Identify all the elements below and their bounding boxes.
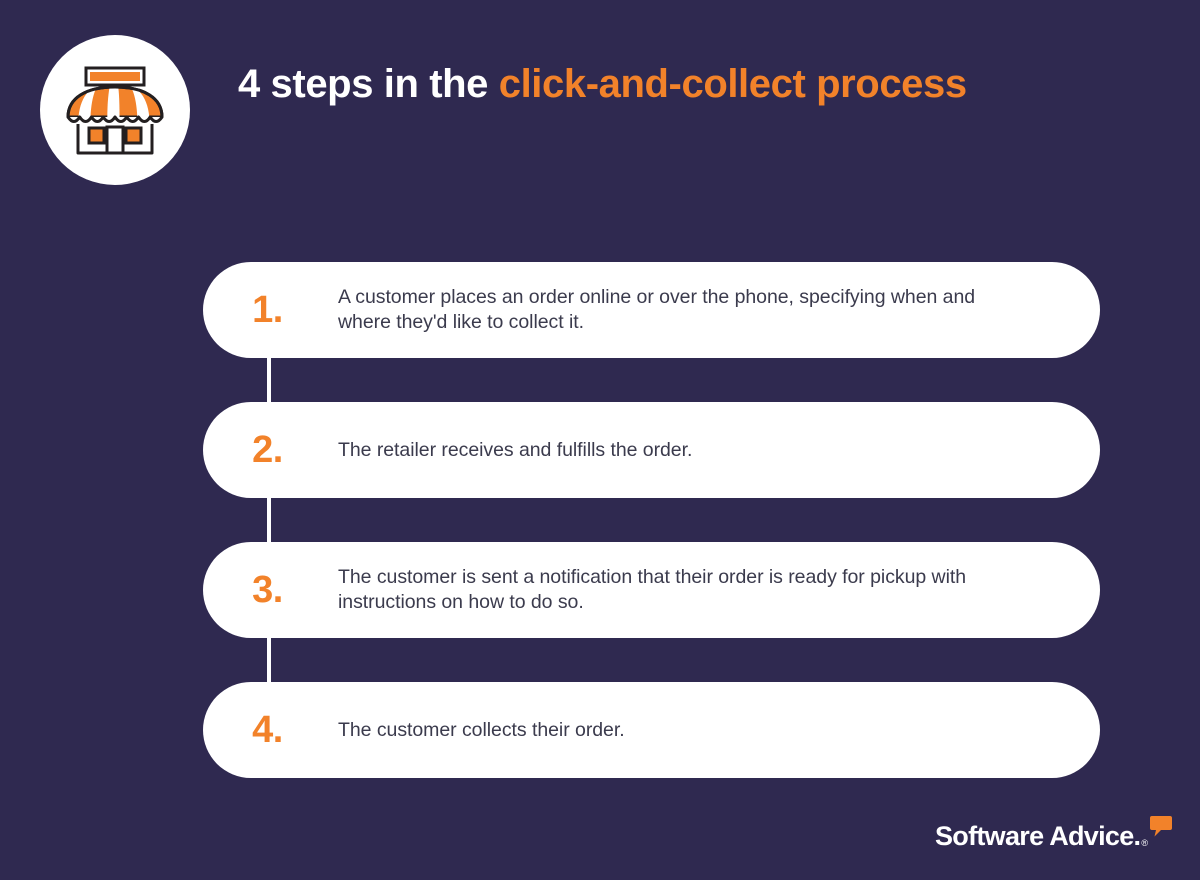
registered-trademark-mark: ® [1141,839,1148,848]
step-connector-line [267,358,271,402]
step-number: 1. [203,289,338,332]
step-row: 1. A customer places an order online or … [203,262,1100,358]
step-card-1[interactable]: 1. A customer places an order online or … [203,262,1100,358]
step-row: 2. The retailer receives and fulfills th… [203,402,1100,498]
step-row: 4. The customer collects their order. [203,682,1100,778]
step-number: 2. [203,429,338,472]
step-row: 3. The customer is sent a notification t… [203,542,1100,638]
step-number: 3. [203,569,338,612]
step-card-3[interactable]: 3. The customer is sent a notification t… [203,542,1100,638]
step-description: The retailer receives and fulfills the o… [338,438,1100,463]
step-card-4[interactable]: 4. The customer collects their order. [203,682,1100,778]
software-advice-logo[interactable]: Software Advice. ® [935,816,1172,850]
storefront-icon [62,62,168,158]
steps-list: 1. A customer places an order online or … [203,262,1100,778]
speech-bubble-icon [1150,816,1172,842]
logo-wordmark: Software Advice. [935,823,1140,850]
step-card-2[interactable]: 2. The retailer receives and fulfills th… [203,402,1100,498]
step-connector-line [267,638,271,682]
step-description: A customer places an order online or ove… [338,285,1100,335]
page-title: 4 steps in the click-and-collect process [238,58,1038,110]
step-connector-line [267,498,271,542]
header: 4 steps in the click-and-collect process [0,0,1200,200]
step-description: The customer collects their order. [338,718,1100,743]
step-number: 4. [203,709,338,752]
storefront-badge [40,35,190,185]
title-lead: 4 steps in the [238,62,499,106]
step-description: The customer is sent a notification that… [338,565,1100,615]
title-accent: click-and-collect process [499,62,967,106]
infographic-canvas: 4 steps in the click-and-collect process… [0,0,1200,880]
